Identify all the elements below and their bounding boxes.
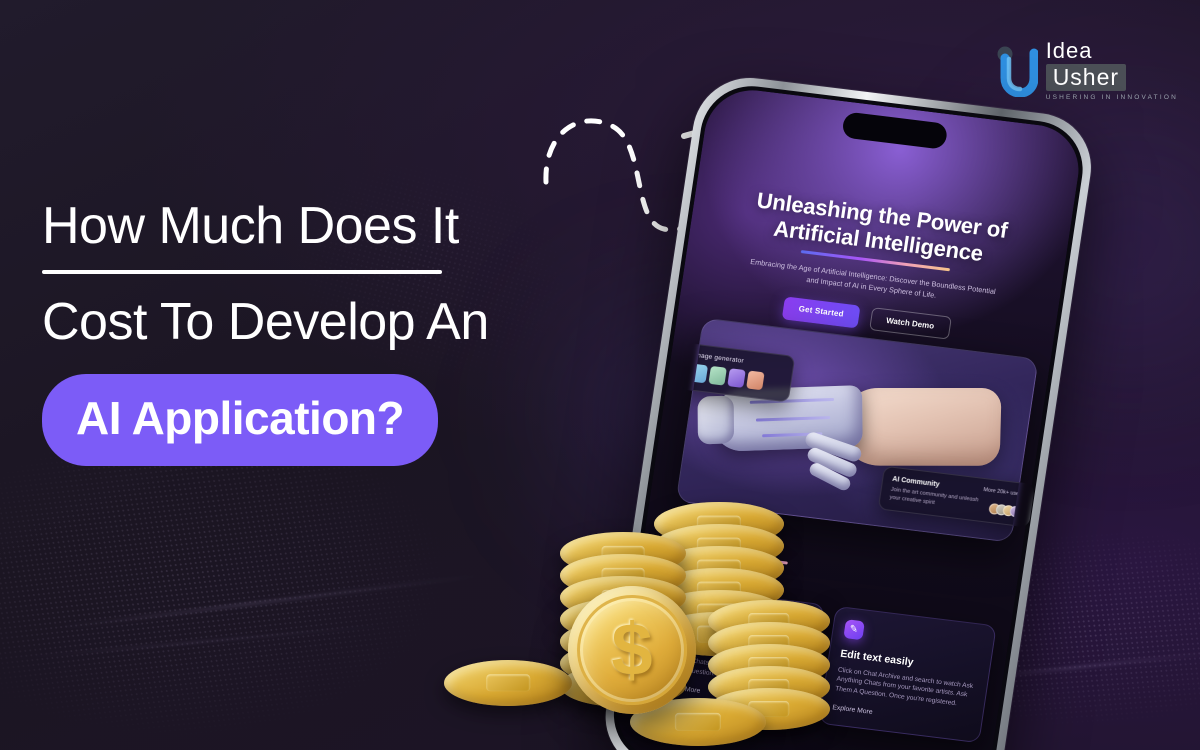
logo-name-top: Idea xyxy=(1046,40,1093,62)
headline-divider xyxy=(42,270,442,274)
logo-tagline: USHERING IN INNOVATION xyxy=(1046,94,1178,101)
avatar xyxy=(1009,505,1022,517)
dollar-symbol: $ xyxy=(611,613,652,687)
thumbnail-1 xyxy=(690,364,709,384)
loose-coin-left xyxy=(444,660,572,706)
brand-logo[interactable]: Idea Usher USHERING IN INNOVATION xyxy=(996,40,1178,101)
human-hand xyxy=(839,388,1002,466)
phone-notch xyxy=(841,111,948,149)
logo-wordmark: Idea Usher USHERING IN INNOVATION xyxy=(1046,40,1178,101)
feature-card-edit-text[interactable]: ✎ Edit text easily Click on Chat Archive… xyxy=(818,605,997,743)
ai-community-avatars xyxy=(988,497,1022,518)
thumbnail-2 xyxy=(708,366,727,386)
ai-community-text: AI Community Join the art community and … xyxy=(889,476,986,513)
watch-demo-button[interactable]: Watch Demo xyxy=(869,307,952,340)
ai-community-user-count: More 20k+ users xyxy=(983,487,1024,498)
edit-pencil-icon: ✎ xyxy=(843,619,865,640)
background-wave-1 xyxy=(61,574,478,628)
logo-name-bottom: Usher xyxy=(1053,65,1119,89)
logo-name-bottom-box: Usher xyxy=(1046,64,1126,91)
headline-highlight-pill: AI Application? xyxy=(42,374,438,466)
background-wave-2 xyxy=(21,623,400,658)
thumbnail-4 xyxy=(746,371,765,391)
get-started-button[interactable]: Get Started xyxy=(782,296,860,328)
dollar-coin: $ xyxy=(568,586,696,714)
explore-more-link[interactable]: Explore More xyxy=(832,704,971,728)
headline-line-2: Cost To Develop An xyxy=(42,292,682,352)
thumbnail-3 xyxy=(727,368,746,388)
gold-coins-group: $ xyxy=(440,480,820,750)
idea-usher-u-mark-icon xyxy=(996,45,1038,97)
banner-canvas: How Much Does It Cost To Develop An AI A… xyxy=(0,0,1200,750)
